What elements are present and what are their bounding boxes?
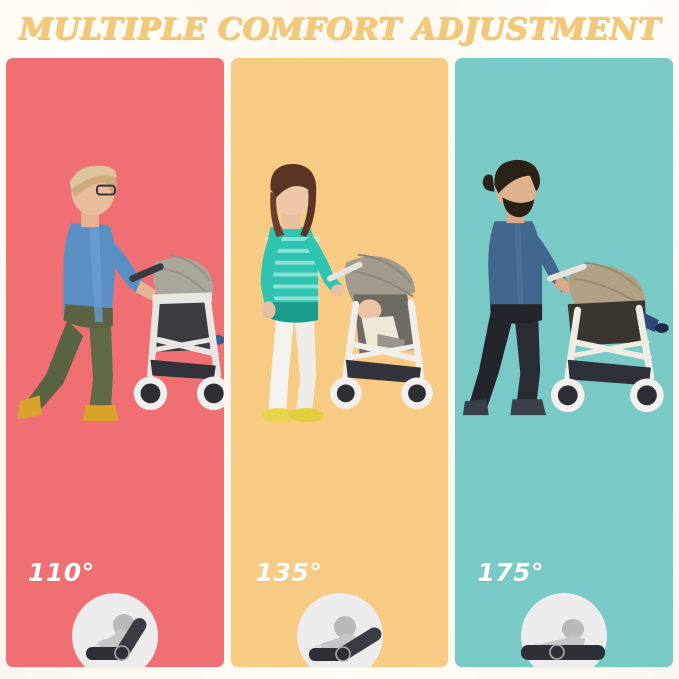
angle-value-sitting: 110°: [28, 558, 95, 587]
scene-man-pushing-stroller-flat: [455, 146, 673, 446]
panel-sleeping[interactable]: 175° SLEEPING: [455, 58, 673, 667]
panel-resting[interactable]: 135° RERSTIN: [231, 58, 449, 667]
seat-flat-icon: [521, 593, 607, 667]
seat-reclined-icon: [297, 593, 383, 667]
panel-sitting[interactable]: 110° SITING: [6, 58, 224, 667]
page-title: MULTIPLE COMFORT ADJUSTMENT: [18, 12, 660, 47]
seat-upright-icon: [72, 593, 158, 667]
photo-figure-father-flat: [455, 146, 673, 443]
angle-value-sleeping: 175°: [477, 558, 544, 587]
title-bar: MULTIPLE COMFORT ADJUSTMENT: [0, 0, 679, 58]
infographic-poster: MULTIPLE COMFORT ADJUSTMENT: [0, 0, 679, 679]
seat-frame: [521, 645, 605, 660]
scene-woman-pushing-stroller-reclined: [231, 146, 449, 446]
angle-value-resting: 135°: [256, 558, 323, 587]
photo-figure-mother-reclined: [231, 146, 449, 443]
scene-woman-pushing-stroller-upright: [6, 146, 224, 446]
photo-figure-mother-upright: [6, 146, 224, 443]
panel-row: 110° SITING: [6, 58, 673, 667]
